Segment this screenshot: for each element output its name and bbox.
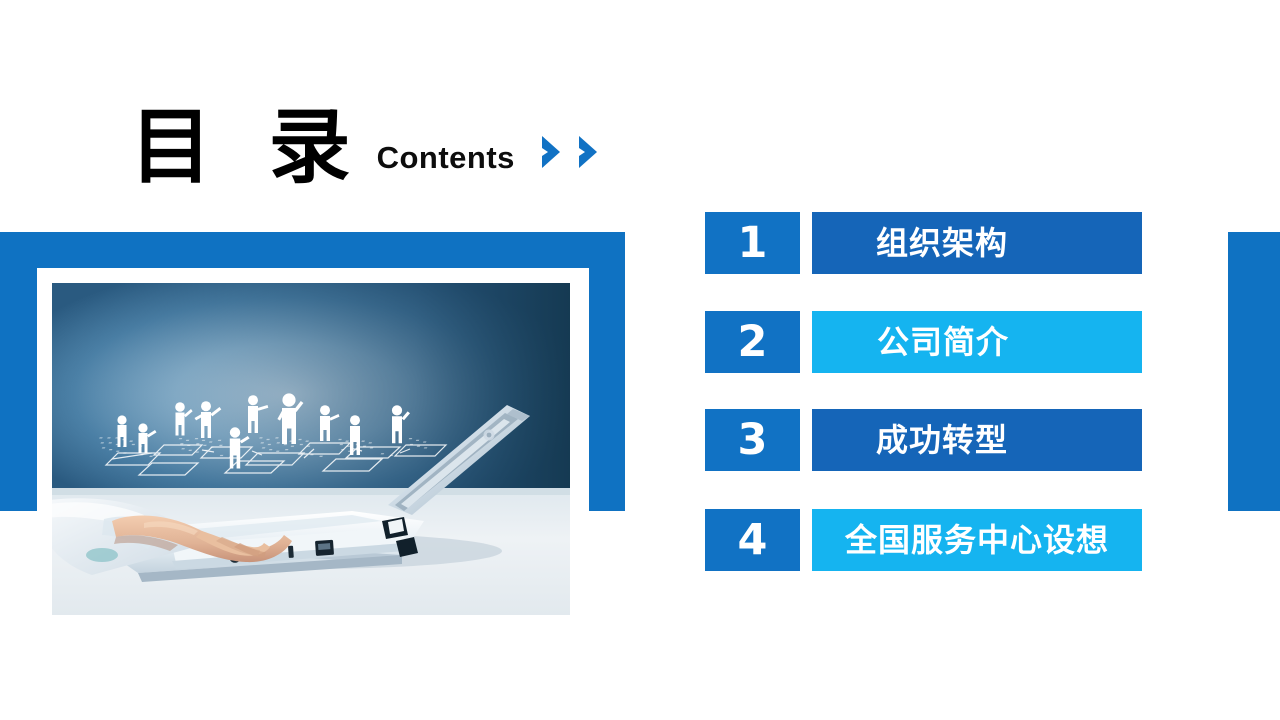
item-number-badge: 4 — [705, 509, 800, 571]
page-title-english: Contents — [377, 140, 515, 176]
list-item[interactable]: 2 公司简介 — [705, 311, 1142, 373]
item-label: 全国服务中心设想 — [812, 524, 1142, 556]
list-item[interactable]: 1 组织架构 — [705, 212, 1142, 274]
item-number-badge: 3 — [705, 409, 800, 471]
item-label-bar[interactable]: 全国服务中心设想 — [812, 509, 1142, 571]
page-title: 目 录 Contents — [130, 110, 610, 185]
item-label: 成功转型 — [812, 424, 1142, 456]
laptop-photo — [52, 283, 570, 615]
item-label-bar[interactable]: 公司简介 — [812, 311, 1142, 373]
item-number: 1 — [738, 222, 768, 265]
item-label: 公司简介 — [812, 326, 1142, 358]
list-item[interactable]: 3 成功转型 — [705, 409, 1142, 471]
double-chevron-right-icon — [541, 135, 610, 169]
item-number-badge: 2 — [705, 311, 800, 373]
item-number: 3 — [738, 419, 768, 462]
item-number: 2 — [738, 321, 768, 364]
page-title-chinese: 目 录 — [130, 110, 365, 185]
right-accent-bar — [1228, 232, 1280, 511]
item-label-bar[interactable]: 组织架构 — [812, 212, 1142, 274]
item-number: 4 — [738, 519, 768, 562]
list-item[interactable]: 4 全国服务中心设想 — [705, 509, 1142, 571]
slide-root: 目 录 Contents — [0, 0, 1280, 720]
item-label-bar[interactable]: 成功转型 — [812, 409, 1142, 471]
item-number-badge: 1 — [705, 212, 800, 274]
item-label: 组织架构 — [812, 227, 1142, 259]
